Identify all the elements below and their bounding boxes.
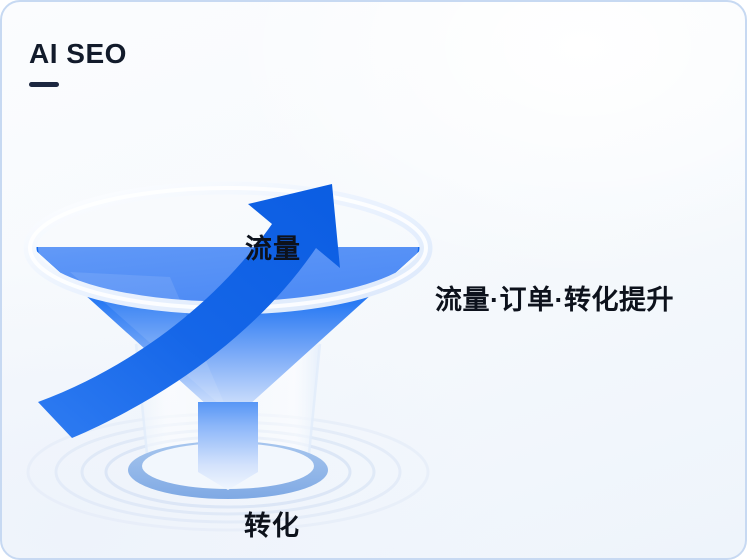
slide-canvas: AI SEO 流量·订单·转化提升: [0, 0, 747, 560]
brand-block: AI SEO: [29, 40, 127, 87]
funnel-label-traffic: 流量: [245, 227, 301, 266]
title-underline-accent: [29, 82, 59, 87]
funnel-stem: [198, 390, 258, 490]
funnel-illustration: 流量 转化: [20, 72, 440, 542]
funnel-label-conversion: 转化: [244, 504, 300, 543]
tagline-text: 流量·订单·转化提升: [435, 278, 674, 317]
page-title: AI SEO: [29, 40, 127, 68]
